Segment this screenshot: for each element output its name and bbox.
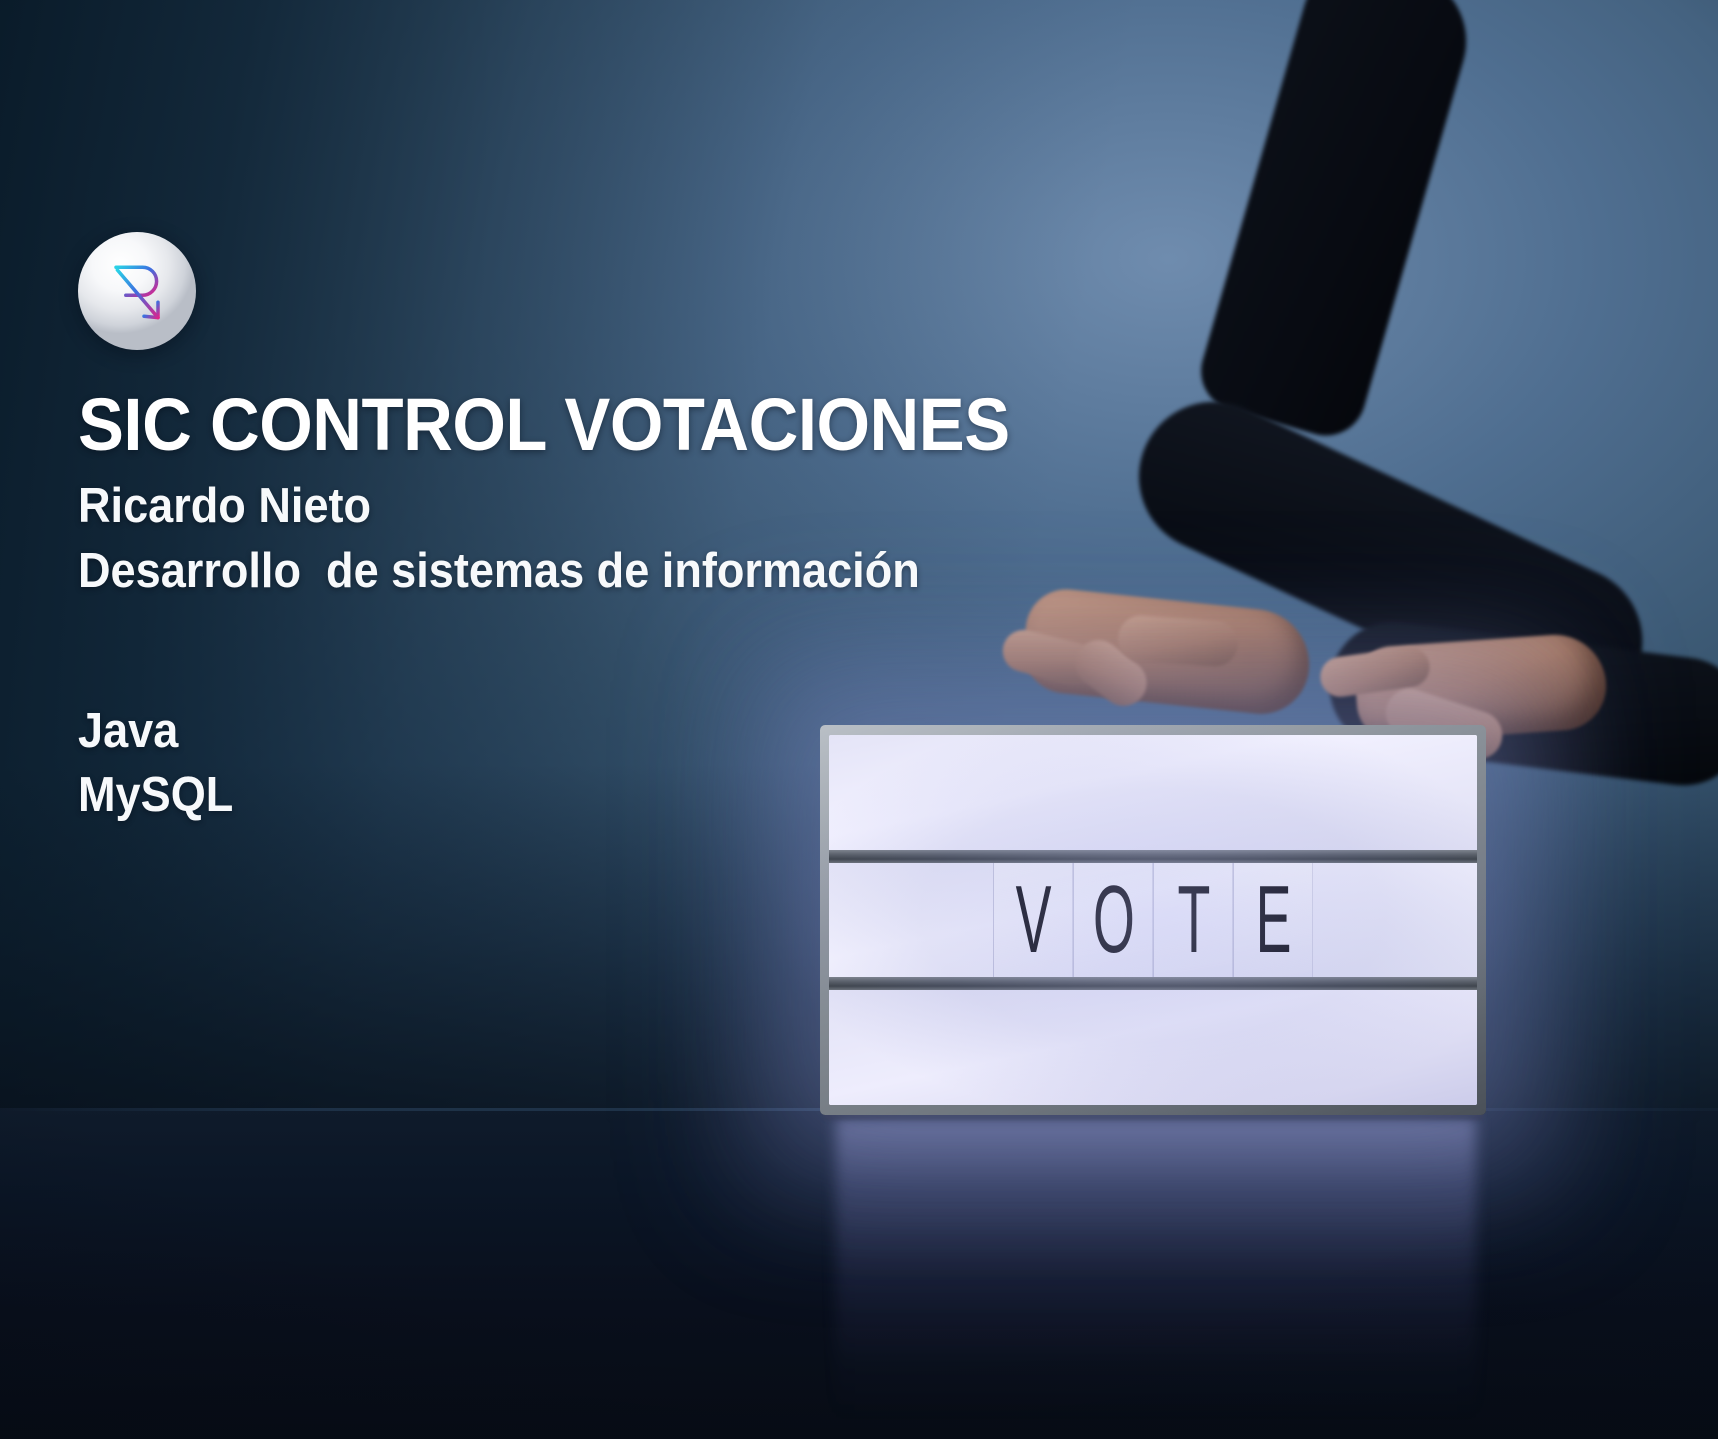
page-title: SIC CONTROL VOTACIONES xyxy=(78,388,1064,462)
tech-stack-item: Java xyxy=(78,699,1053,764)
r-monogram-icon xyxy=(102,256,172,326)
r-monogram-logo xyxy=(78,232,196,350)
author-name: Ricardo Nieto xyxy=(78,476,1053,537)
presentation-title-slide: V O T E xyxy=(0,0,1718,1439)
slide-text-block: SIC CONTROL VOTACIONES Ricardo Nieto Des… xyxy=(78,232,1138,828)
tech-stack-list: Java MySQL xyxy=(78,699,1138,828)
course-name: Desarrollo de sistemas de información xyxy=(78,541,1053,602)
tech-stack-item: MySQL xyxy=(78,763,1053,828)
